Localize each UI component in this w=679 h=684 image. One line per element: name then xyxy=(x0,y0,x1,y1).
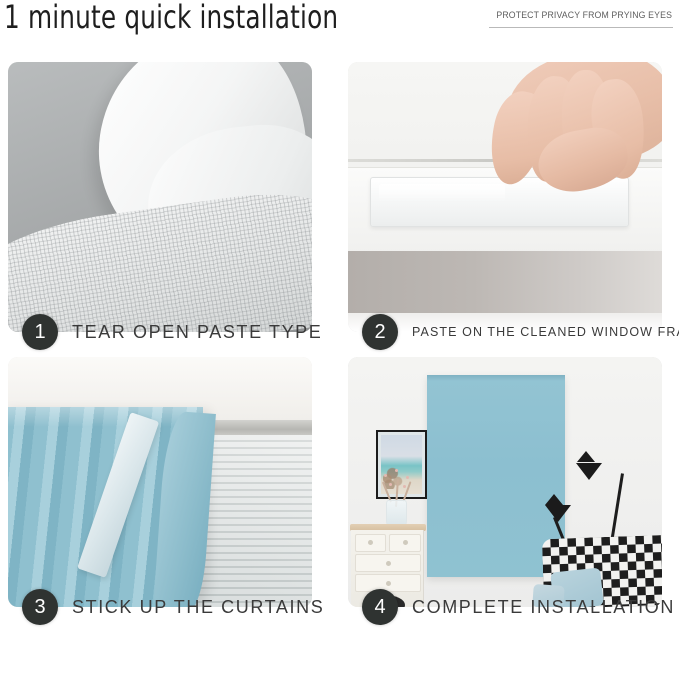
branch-bud xyxy=(406,476,409,479)
step-number-badge-1: 1 xyxy=(22,314,58,350)
branch-bud xyxy=(403,485,406,488)
step-number-badge-2: 2 xyxy=(362,314,398,350)
step-1-label: TEAR OPEN PASTE TYPE xyxy=(72,322,322,343)
grey-sill-band xyxy=(348,251,662,316)
branch-bud xyxy=(384,474,387,477)
step-card-3: 3 STICK UP THE CURTAINS xyxy=(8,357,312,607)
step-4-label: COMPLETE INSTALLATION xyxy=(412,597,675,618)
step-card-2: 2 PASTE ON THE CLEANED WINDOW FRAME xyxy=(348,62,662,332)
step-3-label: STICK UP THE CURTAINS xyxy=(72,597,324,618)
steps-grid: 1 TEAR OPEN PASTE TYPE 2 PAS xyxy=(0,58,679,684)
tagline-underline xyxy=(489,27,673,28)
lamp-shade-upper-top xyxy=(577,451,595,462)
step-3-caption: 3 STICK UP THE CURTAINS xyxy=(22,584,324,630)
branch-bud xyxy=(395,469,398,472)
blind-header-bar xyxy=(427,375,565,381)
step-number-badge-4: 4 xyxy=(362,589,398,625)
branch-bud xyxy=(389,483,392,486)
step-2-label: PASTE ON THE CLEANED WINDOW FRAME xyxy=(412,325,679,339)
step-2-photo xyxy=(348,62,662,332)
step-2-caption: 2 PASTE ON THE CLEANED WINDOW FRAME xyxy=(362,309,679,355)
step-1-photo xyxy=(8,62,312,332)
lamp-shade-lower xyxy=(545,505,571,522)
step-number-badge-3: 3 xyxy=(22,589,58,625)
tagline-text: PROTECT PRIVACY FROM PRYING EYES xyxy=(496,10,665,21)
step-4-photo xyxy=(348,357,662,607)
tagline-block: PROTECT PRIVACY FROM PRYING EYES xyxy=(489,10,673,28)
step-card-4: 4 COMPLETE INSTALLATION xyxy=(348,357,662,607)
step-4-caption: 4 COMPLETE INSTALLATION xyxy=(362,584,675,630)
step-3-photo xyxy=(8,357,312,607)
lamp-shade-lower-top xyxy=(545,494,563,505)
hand xyxy=(480,62,662,197)
step-card-1: 1 TEAR OPEN PASTE TYPE xyxy=(8,62,312,332)
page-header: 1 minute quick installation PROTECT PRIV… xyxy=(0,0,679,58)
step-1-caption: 1 TEAR OPEN PASTE TYPE xyxy=(22,309,322,355)
lamp-shade-upper xyxy=(576,463,602,480)
curtain-top-highlight xyxy=(8,407,203,427)
page-title: 1 minute quick installation xyxy=(4,0,338,36)
drawer-knob xyxy=(386,561,391,566)
